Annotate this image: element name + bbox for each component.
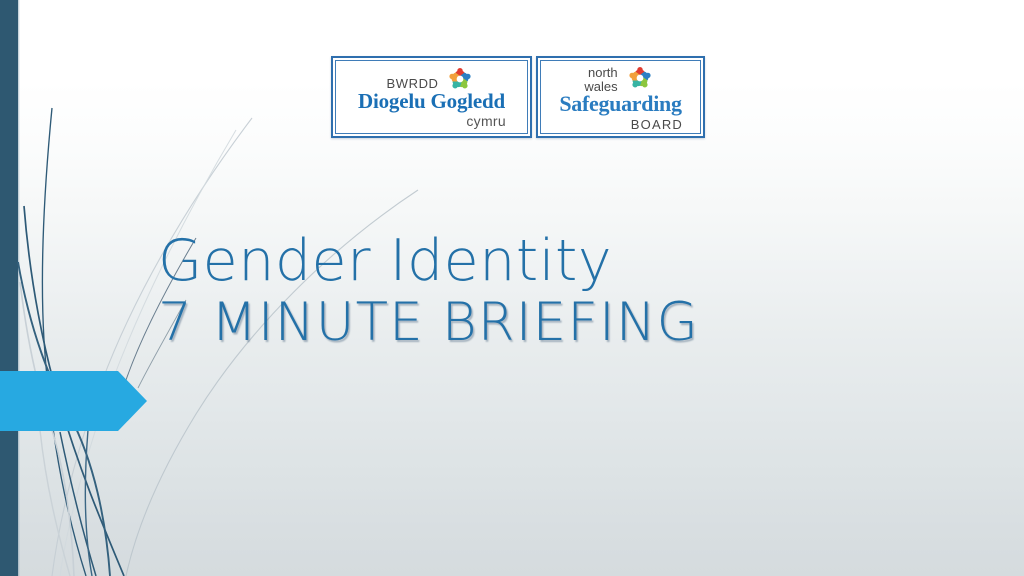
logo-north-wales-safeguarding-board: north wales (536, 56, 705, 138)
logo-english-main: Safeguarding (548, 93, 693, 115)
grass-blade-dark-6 (60, 432, 96, 576)
logo-welsh-sub: cymru (343, 114, 520, 128)
presentation-slide: BWRDD (0, 0, 1024, 576)
logo-welsh-eyebrow: BWRDD (386, 77, 438, 90)
logo-english-top-row: north wales (548, 63, 693, 93)
grass-blade-light-2 (60, 130, 236, 576)
logo-welsh-main: Diogelu Gogledd (343, 91, 520, 112)
slide-title-line-1: Gender Identity (158, 232, 798, 290)
grass-blade-dark-1 (42, 108, 86, 576)
grass-blade-dark-7 (85, 430, 92, 576)
logo-english-eyebrow: north wales (584, 66, 617, 93)
logo-english-sub: BOARD (548, 118, 693, 131)
logo-frame-inner: north wales (540, 60, 701, 134)
logo-bwrdd-diogelu-gogledd-cymru: BWRDD (331, 56, 532, 138)
people-ring-icon (623, 65, 657, 91)
cyan-arrow-banner (0, 371, 147, 431)
logo-english-eyebrow-line2: wales (584, 79, 617, 94)
arrow-shape (0, 371, 147, 431)
slide-title-line-2: 7 MINUTE BRIEFING (158, 294, 798, 351)
logo-strip: BWRDD (331, 56, 705, 138)
grass-blade-light-5 (40, 430, 70, 576)
logo-frame-inner: BWRDD (335, 60, 528, 134)
left-accent-bar (0, 0, 18, 576)
slide-title-block: Gender Identity 7 MINUTE BRIEFING (158, 232, 798, 351)
left-accent-bar-highlight (18, 0, 20, 576)
logo-content-welsh: BWRDD (343, 66, 520, 128)
logo-content-english: north wales (548, 63, 693, 131)
